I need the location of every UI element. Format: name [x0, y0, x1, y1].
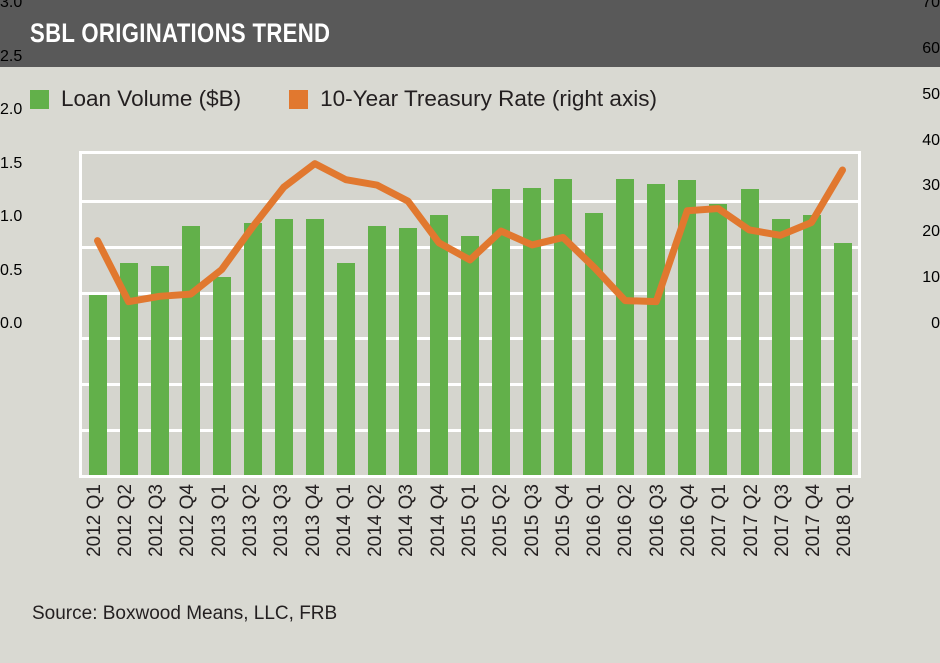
x-axis-slot: 2018 Q1 — [830, 484, 861, 590]
legend-item-loan-volume: Loan Volume ($B) — [30, 86, 241, 112]
x-axis-slot: 2013 Q2 — [235, 484, 266, 590]
x-axis-slot: 2015 Q1 — [454, 484, 485, 590]
x-axis-slot: 2014 Q1 — [329, 484, 360, 590]
legend-label-treasury-rate: 10-Year Treasury Rate (right axis) — [320, 86, 657, 112]
x-axis-slot: 2012 Q3 — [142, 484, 173, 590]
x-axis-slot: 2015 Q4 — [548, 484, 579, 590]
x-axis-tick-label: 2015 Q3 — [522, 484, 544, 557]
x-axis-tick-label: 2015 Q1 — [459, 484, 481, 557]
x-axis-tick-label: 2013 Q3 — [271, 484, 293, 557]
y-axis-tick-label: 20 — [922, 223, 940, 241]
x-axis-slot: 2012 Q4 — [173, 484, 204, 590]
y-axis-tick-label: 3.0 — [0, 0, 22, 12]
x-axis-tick-label: 2013 Q1 — [209, 484, 231, 557]
plot-area — [79, 151, 861, 478]
x-axis-slot: 2014 Q4 — [423, 484, 454, 590]
x-axis-slot: 2016 Q4 — [673, 484, 704, 590]
x-axis-tick-label: 2013 Q2 — [240, 484, 262, 557]
y-axis-tick-label: 2.5 — [0, 48, 22, 66]
x-axis-slot: 2012 Q2 — [110, 484, 141, 590]
legend-swatch-square-icon — [30, 90, 49, 109]
y-axis-tick-label: 0.0 — [0, 315, 22, 333]
x-axis-tick-label: 2016 Q3 — [647, 484, 669, 557]
x-axis-tick-label: 2016 Q2 — [615, 484, 637, 557]
x-axis-tick-label: 2014 Q3 — [396, 484, 418, 557]
x-axis-tick-label: 2012 Q3 — [146, 484, 168, 557]
x-axis-tick-label: 2018 Q1 — [834, 484, 856, 557]
x-axis-tick-label: 2017 Q3 — [772, 484, 794, 557]
x-axis-tick-label: 2015 Q2 — [490, 484, 512, 557]
x-axis-labels: 2012 Q12012 Q22012 Q32012 Q42013 Q12013 … — [79, 484, 861, 590]
x-axis-tick-label: 2016 Q4 — [678, 484, 700, 557]
x-axis-slot: 2015 Q2 — [486, 484, 517, 590]
x-axis-tick-label: 2012 Q1 — [84, 484, 106, 557]
x-axis-slot: 2016 Q3 — [642, 484, 673, 590]
y-axis-tick-label: 10 — [922, 269, 940, 287]
y-axis-tick-label: 70 — [922, 0, 940, 12]
y-axis-tick-label: 40 — [922, 132, 940, 150]
x-axis-slot: 2014 Q2 — [361, 484, 392, 590]
source-note: Source: Boxwood Means, LLC, FRB — [32, 603, 337, 625]
y-axis-tick-label: 2.0 — [0, 101, 22, 119]
x-axis-slot: 2017 Q4 — [798, 484, 829, 590]
chart-figure: SBL ORIGINATIONS TREND Loan Volume ($B) … — [0, 0, 940, 663]
figure-bottom-edge — [0, 653, 940, 663]
x-axis-slot: 2016 Q1 — [580, 484, 611, 590]
x-axis-tick-label: 2012 Q4 — [177, 484, 199, 557]
x-axis-slot: 2015 Q3 — [517, 484, 548, 590]
x-axis-slot: 2013 Q1 — [204, 484, 235, 590]
x-axis-tick-label: 2016 Q1 — [584, 484, 606, 557]
x-axis-tick-label: 2013 Q4 — [303, 484, 325, 557]
x-axis-tick-label: 2014 Q4 — [428, 484, 450, 557]
legend-label-loan-volume: Loan Volume ($B) — [61, 86, 241, 112]
y-axis-tick-label: 0 — [931, 315, 940, 333]
x-axis-slot: 2017 Q2 — [736, 484, 767, 590]
legend-item-treasury-rate: 10-Year Treasury Rate (right axis) — [289, 86, 657, 112]
chart-header-bar: SBL ORIGINATIONS TREND — [0, 0, 940, 67]
y-axis-tick-label: 1.0 — [0, 208, 22, 226]
x-axis-slot: 2017 Q1 — [705, 484, 736, 590]
y-axis-tick-label: 1.5 — [0, 155, 22, 173]
legend-swatch-square-icon — [289, 90, 308, 109]
treasury-rate-polyline — [98, 164, 843, 302]
x-axis-tick-label: 2017 Q1 — [709, 484, 731, 557]
x-axis-slot: 2012 Q1 — [79, 484, 110, 590]
x-axis-slot: 2017 Q3 — [767, 484, 798, 590]
chart-legend: Loan Volume ($B) 10-Year Treasury Rate (… — [30, 82, 657, 116]
x-axis-tick-label: 2017 Q4 — [803, 484, 825, 557]
y-axis-tick-label: 60 — [922, 40, 940, 58]
plot-inner — [82, 154, 858, 475]
x-axis-tick-label: 2014 Q1 — [334, 484, 356, 557]
line-series-treasury-rate — [82, 154, 858, 475]
x-axis-tick-label: 2012 Q2 — [115, 484, 137, 557]
x-axis-slot: 2013 Q4 — [298, 484, 329, 590]
page-title: SBL ORIGINATIONS TREND — [30, 18, 330, 49]
x-axis-tick-label: 2015 Q4 — [553, 484, 575, 557]
y-axis-tick-label: 0.5 — [0, 262, 22, 280]
x-axis-tick-label: 2017 Q2 — [741, 484, 763, 557]
y-axis-tick-label: 50 — [922, 86, 940, 104]
x-axis-slot: 2014 Q3 — [392, 484, 423, 590]
x-axis-tick-label: 2014 Q2 — [365, 484, 387, 557]
y-axis-tick-label: 30 — [922, 177, 940, 195]
x-axis-slot: 2016 Q2 — [611, 484, 642, 590]
x-axis-slot: 2013 Q3 — [267, 484, 298, 590]
